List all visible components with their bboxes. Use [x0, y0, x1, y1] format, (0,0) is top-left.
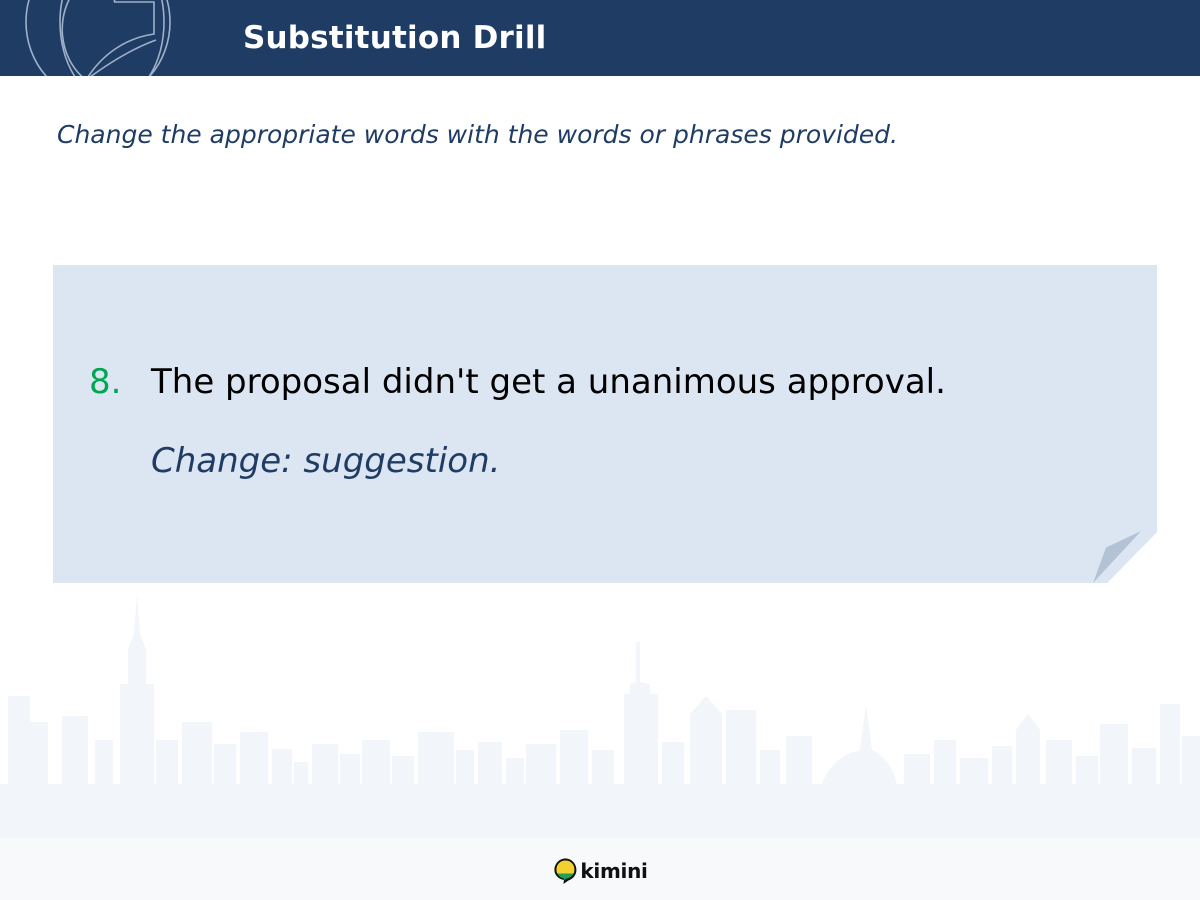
slide: Substitution Drill Change the appropriat…	[0, 0, 1200, 900]
g-monogram-outline-icon	[0, 0, 204, 76]
city-skyline-silhouette-icon	[0, 544, 1200, 844]
brand-name: kimini	[580, 861, 647, 881]
page-title: Substitution Drill	[243, 0, 546, 76]
slide-header: Substitution Drill	[0, 0, 1200, 76]
question-line: 8. The proposal didn't get a unanimous a…	[89, 362, 946, 402]
kimini-balloon-logo-icon	[552, 857, 578, 885]
question-card-content: 8. The proposal didn't get a unanimous a…	[53, 265, 1157, 583]
instruction-text: Change the appropriate words with the wo…	[57, 120, 898, 149]
question-change-instruction: Change: suggestion.	[151, 441, 500, 481]
question-sentence: The proposal didn't get a unanimous appr…	[151, 362, 946, 402]
question-card: 8. The proposal didn't get a unanimous a…	[53, 265, 1157, 583]
question-number: 8.	[89, 362, 151, 402]
slide-footer: kimini	[0, 838, 1200, 900]
brand-logo: kimini	[552, 856, 647, 886]
